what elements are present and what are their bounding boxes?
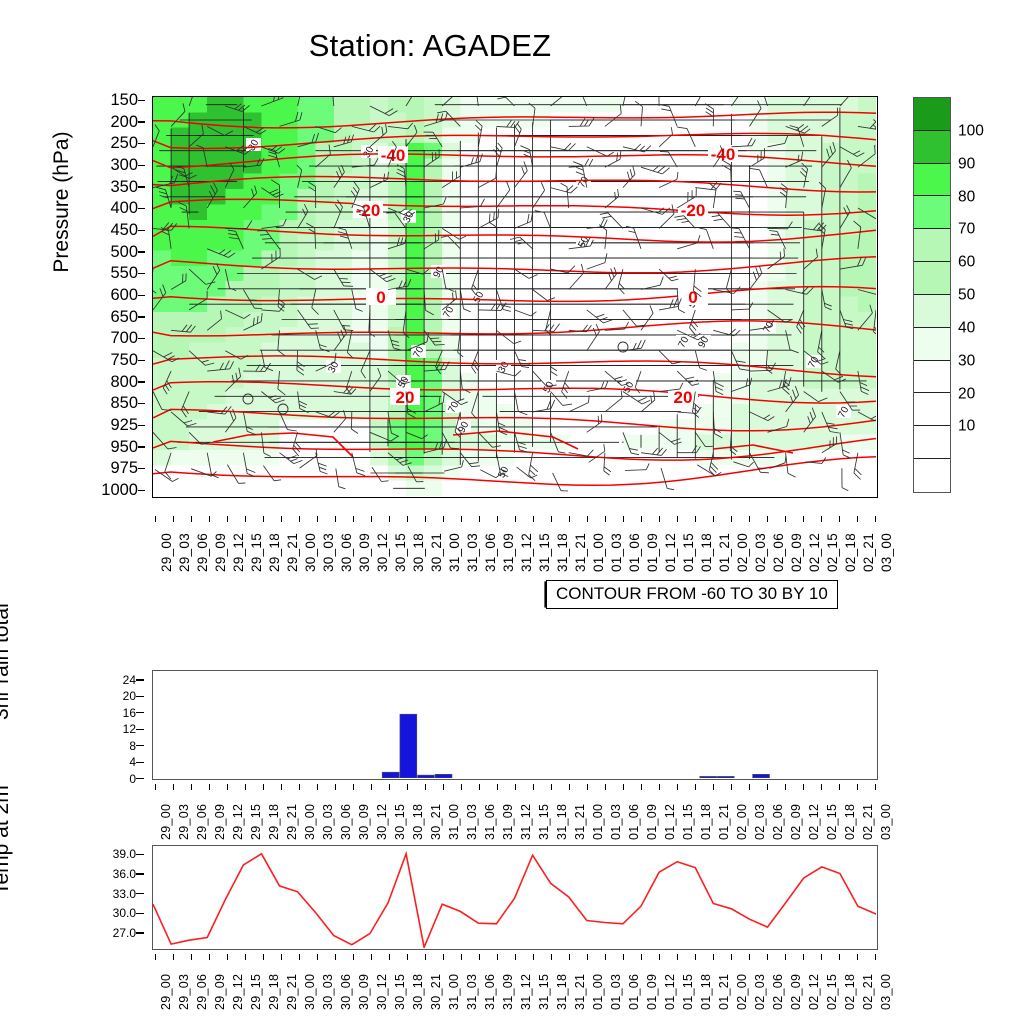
colorbar-label: 70 (958, 222, 975, 238)
time-tick-label: 01_15 (682, 974, 695, 1010)
time-tick-label: 31_21 (574, 804, 587, 840)
time-tick-label: 31_12 (520, 804, 533, 840)
time-tick-label: 29_21 (286, 533, 300, 572)
time-tick-label: 30_12 (376, 533, 390, 572)
time-tickmark (479, 516, 480, 522)
rain-tickmark (136, 778, 144, 779)
time-tickmark (569, 784, 570, 790)
time-tickmark (569, 954, 570, 960)
time-tickmark (551, 954, 552, 960)
time-tick-label: 29_18 (268, 804, 281, 840)
time-tick-label: 30_15 (394, 533, 408, 572)
main-x-axis-labels: 29_0029_0329_0629_0929_1229_1529_1829_21… (152, 516, 878, 582)
time-tick-label: 31_18 (556, 974, 569, 1010)
time-tickmark (461, 784, 462, 790)
temp-tick: 36.0 (113, 868, 136, 880)
temp-axis-title: Temp at 2m (0, 785, 14, 895)
time-tick-label: 30_21 (430, 533, 444, 572)
time-tick-label: 29_15 (250, 533, 264, 572)
time-tick-label: 31_09 (502, 974, 515, 1010)
time-tick-label: 01_00 (592, 804, 605, 840)
time-tick-label: 01_21 (718, 974, 731, 1010)
time-tick-label: 29_12 (232, 533, 246, 572)
time-tick-label: 31_03 (466, 804, 479, 840)
time-tick-label: 02_15 (826, 804, 839, 840)
pressure-tick: 800 (110, 373, 138, 390)
time-tickmark (497, 954, 498, 960)
time-tick-label: 30_21 (430, 974, 443, 1010)
time-tick-label: 30_03 (322, 804, 335, 840)
time-tickmark (515, 516, 516, 522)
time-tickmark (191, 516, 192, 522)
time-tickmark (785, 516, 786, 522)
time-tickmark (677, 954, 678, 960)
colorbar-label: 40 (958, 320, 975, 336)
time-tick-label: 02_12 (808, 533, 822, 572)
time-tickmark (641, 784, 642, 790)
time-tick-label: 30_06 (340, 974, 353, 1010)
time-tick-label: 02_21 (862, 533, 876, 572)
time-tickmark (785, 954, 786, 960)
time-tick-label: 30_00 (304, 804, 317, 840)
time-tickmark (695, 954, 696, 960)
time-tickmark (695, 516, 696, 522)
svg-text:20: 20 (674, 388, 693, 407)
time-tick-label: 31_15 (538, 533, 552, 572)
colorbar-cell (914, 196, 950, 229)
time-tickmark (767, 784, 768, 790)
time-tick-label: 01_03 (610, 533, 624, 572)
time-tick-label: 29_06 (196, 804, 209, 840)
rain-tickmark (136, 762, 144, 763)
time-tickmark (155, 784, 156, 790)
pressure-tick: 1000 (101, 482, 138, 499)
pressure-tick: 850 (110, 395, 138, 412)
meteogram-page: Station: AGADEZ Pressure (hPa) 150200250… (0, 0, 1024, 1024)
time-tick-label: 30_12 (376, 974, 389, 1010)
time-tick-label: 30_18 (412, 533, 426, 572)
rain-tickmark (136, 679, 144, 680)
time-tickmark (263, 516, 264, 522)
rain-tickmark (136, 729, 144, 730)
svg-text:0: 0 (376, 288, 385, 307)
time-tick-label: 30_09 (358, 974, 371, 1010)
time-tickmark (623, 784, 624, 790)
colorbar-label: 10 (958, 419, 975, 435)
time-tickmark (173, 784, 174, 790)
time-tickmark (335, 954, 336, 960)
time-tickmark (857, 784, 858, 790)
time-tickmark (677, 516, 678, 522)
time-tickmark (281, 516, 282, 522)
time-tickmark (749, 954, 750, 960)
pressure-tick: 150 (110, 92, 138, 109)
pressure-tick: 350 (110, 178, 138, 195)
time-tick-label: 02_03 (754, 804, 767, 840)
time-tickmark (407, 516, 408, 522)
time-tickmark (641, 516, 642, 522)
time-tickmark (407, 954, 408, 960)
page-title: Station: AGADEZ (0, 28, 860, 64)
time-tickmark (317, 954, 318, 960)
pressure-tickmark (138, 381, 145, 382)
time-tickmark (839, 784, 840, 790)
time-tick-label: 01_03 (610, 804, 623, 840)
time-tick-label: 31_18 (556, 804, 569, 840)
time-tickmark (281, 784, 282, 790)
time-tick-label: 30_09 (358, 533, 372, 572)
pressure-tick: 700 (110, 330, 138, 347)
time-tick-label: 02_18 (844, 804, 857, 840)
colorbar-cell (914, 426, 950, 459)
time-tick-label: 01_15 (682, 533, 696, 572)
time-tickmark (371, 784, 372, 790)
pressure-tickmark (138, 100, 145, 101)
time-tickmark (443, 954, 444, 960)
temp-tick: 30.0 (113, 907, 136, 919)
svg-text:-40: -40 (711, 145, 736, 164)
pressure-tickmark (138, 143, 145, 144)
time-tickmark (533, 516, 534, 522)
time-tick-label: 29_15 (250, 804, 263, 840)
pressure-tickmark (138, 251, 145, 252)
contour-caption-text: CONTOUR FROM -60 TO 30 BY 10 (556, 584, 828, 604)
time-tickmark (641, 954, 642, 960)
temp-tick: 33.0 (113, 888, 136, 900)
temp-tickmark (136, 932, 144, 933)
temp-axis-labels: 27.030.033.036.039.0 (86, 845, 148, 950)
pressure-tickmark (138, 273, 145, 274)
time-tickmark (479, 784, 480, 790)
temp-tickmark (136, 873, 144, 874)
time-tickmark (587, 516, 588, 522)
colorbar-label: 90 (958, 156, 975, 172)
colorbar (913, 97, 951, 493)
time-tickmark (227, 954, 228, 960)
time-tick-label: 01_09 (646, 804, 659, 840)
time-tickmark (551, 784, 552, 790)
time-tick-label: 01_00 (592, 533, 606, 572)
pressure-tick: 200 (110, 113, 138, 130)
pressure-tickmark (138, 360, 145, 361)
time-tick-label: 02_15 (826, 533, 840, 572)
time-tickmark (209, 954, 210, 960)
time-tickmark (425, 954, 426, 960)
time-tick-label: 01_18 (700, 974, 713, 1010)
time-tick-label: 01_12 (664, 974, 677, 1010)
time-tick-label: 30_03 (322, 533, 336, 572)
time-tickmark (389, 516, 390, 522)
time-tick-label: 02_03 (754, 533, 768, 572)
rain-tickmark (136, 696, 144, 697)
rain-tick: 8 (129, 740, 136, 752)
time-tick-label: 30_15 (394, 974, 407, 1010)
time-tick-label: 30_15 (394, 804, 407, 840)
time-tick-label: 02_09 (790, 533, 804, 572)
colorbar-cell (914, 229, 950, 262)
time-tickmark (191, 784, 192, 790)
time-tick-label: 02_00 (736, 804, 749, 840)
time-tick-label: 01_06 (628, 533, 642, 572)
time-tick-label: 31_21 (574, 974, 587, 1010)
temp-panel[interactable] (152, 845, 878, 950)
time-tickmark (515, 954, 516, 960)
time-tick-label: 29_03 (178, 974, 191, 1010)
time-tickmark (587, 954, 588, 960)
time-tickmark (623, 954, 624, 960)
time-tick-label: 29_12 (232, 974, 245, 1010)
time-tick-label: 31_06 (484, 533, 498, 572)
time-tick-label: 31_12 (520, 974, 533, 1010)
time-tickmark (173, 954, 174, 960)
time-tickmark (353, 954, 354, 960)
time-tick-label: 02_21 (862, 974, 875, 1010)
colorbar-cell (914, 361, 950, 394)
time-tickmark (875, 954, 876, 960)
colorbar-label: 20 (958, 386, 975, 402)
rain-tickmark (136, 712, 144, 713)
temp-tick: 27.0 (113, 927, 136, 939)
time-tick-label: 01_21 (718, 804, 731, 840)
time-tickmark (803, 516, 804, 522)
time-tick-label: 30_18 (412, 974, 425, 1010)
time-tick-label: 02_09 (790, 974, 803, 1010)
colorbar-cell (914, 164, 950, 197)
time-tickmark (533, 784, 534, 790)
pressure-tickmark (138, 316, 145, 317)
time-tick-label: 30_09 (358, 804, 371, 840)
pressure-tick: 650 (110, 308, 138, 325)
time-tickmark (749, 784, 750, 790)
rain-tick: 24 (123, 674, 136, 686)
rain-axis-title: 3hr rain total (0, 603, 14, 720)
time-tickmark (425, 516, 426, 522)
time-tick-label: 02_12 (808, 974, 821, 1010)
time-tickmark (731, 784, 732, 790)
time-tick-label: 03_00 (880, 804, 893, 840)
time-tickmark (659, 516, 660, 522)
time-tickmark (335, 784, 336, 790)
time-tick-label: 29_09 (214, 974, 227, 1010)
pressure-tick: 500 (110, 243, 138, 260)
pressure-tickmark (138, 468, 145, 469)
time-tick-label: 30_00 (304, 533, 318, 572)
time-tick-label: 29_00 (160, 804, 173, 840)
time-tick-label: 31_06 (484, 804, 497, 840)
temp-x-axis-labels: 29_0029_0329_0629_0929_1229_1529_1829_21… (152, 954, 878, 1020)
rain-tick: 0 (129, 773, 136, 785)
time-tickmark (425, 784, 426, 790)
time-tick-label: 30_00 (304, 974, 317, 1010)
time-tick-label: 01_18 (700, 804, 713, 840)
time-tickmark (803, 954, 804, 960)
time-tick-label: 01_06 (628, 974, 641, 1010)
temp-line-plot (153, 846, 876, 948)
time-tick-label: 02_12 (808, 804, 821, 840)
time-tickmark (713, 784, 714, 790)
time-tickmark (605, 516, 606, 522)
colorbar-cell (914, 131, 950, 164)
temp-tickmark (136, 854, 144, 855)
time-tick-label: 29_03 (178, 804, 191, 840)
time-tickmark (317, 516, 318, 522)
sounding-panel[interactable]: 3030303030505050505050507070707070707070… (152, 96, 878, 498)
time-tickmark (299, 784, 300, 790)
time-tick-label: 31_03 (466, 533, 480, 572)
time-tickmark (155, 516, 156, 522)
time-tickmark (551, 516, 552, 522)
time-tick-label: 02_06 (772, 533, 786, 572)
rain-axis-labels: 04812162024 (96, 670, 148, 780)
time-tick-label: 02_03 (754, 974, 767, 1010)
time-tickmark (479, 954, 480, 960)
time-tickmark (389, 784, 390, 790)
pressure-tickmark (138, 403, 145, 404)
time-tick-label: 03_00 (880, 533, 894, 572)
time-tickmark (227, 784, 228, 790)
time-tick-label: 31_18 (556, 533, 570, 572)
time-tick-label: 01_09 (646, 533, 660, 572)
time-tick-label: 01_03 (610, 974, 623, 1010)
time-tickmark (821, 516, 822, 522)
time-tick-label: 29_03 (178, 533, 192, 572)
time-tickmark (263, 954, 264, 960)
time-tickmark (245, 784, 246, 790)
time-tickmark (281, 954, 282, 960)
time-tickmark (335, 516, 336, 522)
time-tick-label: 01_15 (682, 804, 695, 840)
pressure-tickmark (138, 490, 145, 491)
time-tickmark (461, 954, 462, 960)
time-tick-label: 02_18 (844, 533, 858, 572)
temp-tickmark (136, 893, 144, 894)
time-tick-label: 30_12 (376, 804, 389, 840)
time-tick-label: 31_12 (520, 533, 534, 572)
temp-tickmark (136, 913, 144, 914)
time-tickmark (785, 784, 786, 790)
time-tickmark (839, 954, 840, 960)
time-tickmark (497, 516, 498, 522)
time-tick-label: 01_00 (592, 974, 605, 1010)
time-tick-label: 30_03 (322, 974, 335, 1010)
time-tick-label: 29_06 (196, 974, 209, 1010)
time-tickmark (209, 516, 210, 522)
time-tick-label: 29_09 (214, 533, 228, 572)
time-tick-label: 01_18 (700, 533, 714, 572)
time-tickmark (371, 516, 372, 522)
time-tickmark (191, 954, 192, 960)
time-tick-label: 29_06 (196, 533, 210, 572)
time-tickmark (857, 516, 858, 522)
time-tickmark (443, 784, 444, 790)
pressure-tick: 550 (110, 265, 138, 282)
time-tickmark (389, 954, 390, 960)
time-tickmark (713, 954, 714, 960)
time-tickmark (155, 954, 156, 960)
colorbar-label: 30 (958, 353, 975, 369)
time-tick-label: 31_15 (538, 974, 551, 1010)
time-tickmark (731, 954, 732, 960)
pressure-tick: 250 (110, 135, 138, 152)
time-tick-label: 31_00 (448, 533, 462, 572)
time-tickmark (353, 516, 354, 522)
time-tickmark (533, 954, 534, 960)
pressure-tickmark (138, 295, 145, 296)
time-tickmark (209, 784, 210, 790)
time-tickmark (407, 784, 408, 790)
time-tick-label: 30_21 (430, 804, 443, 840)
time-tickmark (731, 516, 732, 522)
time-tickmark (245, 516, 246, 522)
time-tickmark (713, 516, 714, 522)
time-tickmark (299, 954, 300, 960)
time-tickmark (461, 516, 462, 522)
rain-tickmark (136, 745, 144, 746)
pressure-tickmark (138, 425, 145, 426)
pressure-tick: 975 (110, 460, 138, 477)
colorbar-cell (914, 98, 950, 131)
time-tick-label: 01_09 (646, 974, 659, 1010)
svg-text:0: 0 (688, 288, 697, 307)
time-tickmark (839, 516, 840, 522)
time-tickmark (317, 784, 318, 790)
time-tickmark (695, 784, 696, 790)
rain-tick: 20 (123, 690, 136, 702)
time-tick-label: 02_21 (862, 804, 875, 840)
rain-tick: 12 (123, 723, 136, 735)
time-tick-label: 02_00 (736, 533, 750, 572)
colorbar-cell (914, 459, 950, 492)
time-tickmark (245, 954, 246, 960)
time-tickmark (263, 784, 264, 790)
pressure-tick: 750 (110, 352, 138, 369)
time-tickmark (605, 784, 606, 790)
colorbar-label: 80 (958, 189, 975, 205)
time-tick-label: 30_06 (340, 533, 354, 572)
time-tickmark (803, 784, 804, 790)
time-tickmark (227, 516, 228, 522)
pressure-tickmark (138, 121, 145, 122)
pressure-tick: 925 (110, 417, 138, 434)
time-tickmark (659, 784, 660, 790)
pressure-tickmark (138, 186, 145, 187)
time-tick-label: 29_21 (286, 974, 299, 1010)
rain-x-axis-labels: 29_0029_0329_0629_0929_1229_1529_1829_21… (152, 784, 878, 850)
time-tick-label: 01_12 (664, 804, 677, 840)
colorbar-label: 100 (958, 123, 984, 139)
time-tickmark (497, 784, 498, 790)
time-tick-label: 02_06 (772, 974, 785, 1010)
time-tickmark (173, 516, 174, 522)
rain-tick: 4 (129, 756, 136, 768)
time-tickmark (515, 784, 516, 790)
time-tick-label: 02_18 (844, 974, 857, 1010)
time-tick-label: 02_09 (790, 804, 803, 840)
pressure-tick: 950 (110, 438, 138, 455)
pressure-axis-labels: 1502002503003504004505005506006507007508… (60, 96, 146, 498)
time-tick-label: 31_03 (466, 974, 479, 1010)
time-tickmark (353, 784, 354, 790)
time-tick-label: 31_00 (448, 974, 461, 1010)
time-tickmark (821, 784, 822, 790)
time-tick-label: 29_18 (268, 974, 281, 1010)
time-tick-label: 29_00 (160, 974, 173, 1010)
colorbar-cell (914, 295, 950, 328)
time-tickmark (569, 516, 570, 522)
time-tickmark (821, 954, 822, 960)
time-tickmark (767, 954, 768, 960)
rain-panel[interactable] (152, 670, 878, 780)
